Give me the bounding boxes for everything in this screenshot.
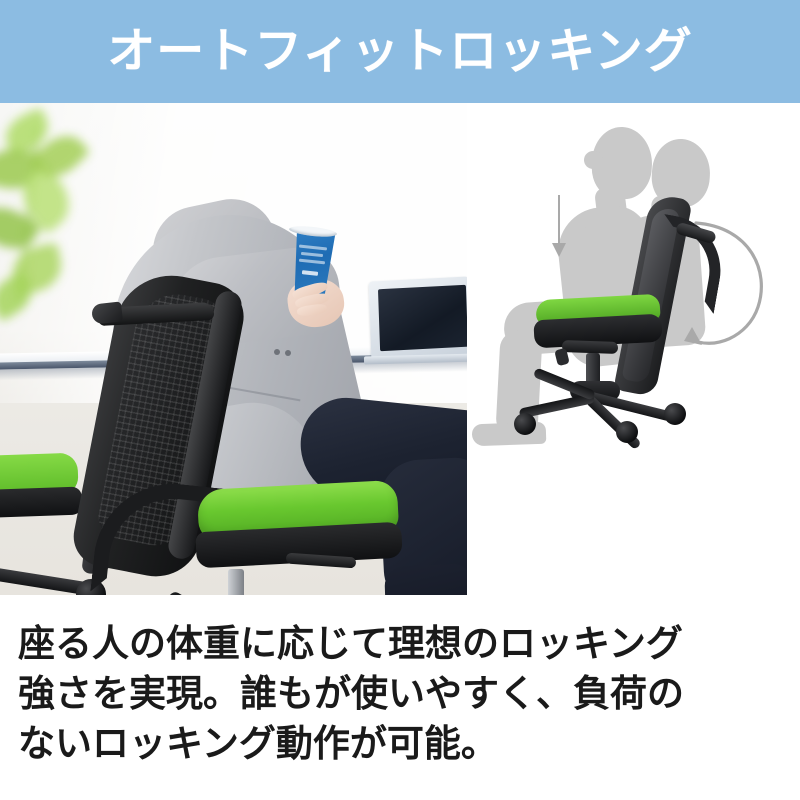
- caption-block: 座る人の体重に応じて理想のロッキング 強さを実現。誰もが使いやすく、負荷の ない…: [0, 595, 800, 800]
- diagram-canvas: [470, 103, 800, 595]
- diagram-chair-caster: [616, 421, 638, 443]
- diagram-chair-caster: [514, 413, 536, 435]
- caption-line-3: ないロッキング動作が可能。: [18, 719, 782, 769]
- jacket-button: [274, 349, 280, 355]
- auto-fit-rocking-diagram: [470, 103, 800, 595]
- person-shin: [384, 564, 467, 595]
- potted-plant: [0, 103, 114, 327]
- rotation-arrow-icon: [662, 209, 780, 359]
- down-arrow-icon: [558, 195, 560, 249]
- diagram-chair-caster: [664, 403, 686, 425]
- caption-line-1: 座る人の体重に応じて理想のロッキング: [18, 619, 782, 669]
- office-chair-second-seat-underside: [0, 486, 82, 519]
- jacket-button: [285, 350, 291, 356]
- banner-title: オートフィットロッキング: [107, 28, 693, 76]
- laptop-screen: [378, 285, 467, 352]
- office-chair-gas-cylinder: [228, 569, 244, 595]
- caption-line-2: 強さを実現。誰もが使いやすく、負荷の: [18, 669, 782, 719]
- photo-strip: [0, 103, 800, 595]
- down-arrow-head-icon: [552, 243, 566, 257]
- diagram-chair-mechanism: [562, 340, 618, 354]
- person-seated-in-office-chair-photo: [0, 103, 467, 595]
- office-chair-armrest-tip: [91, 301, 123, 324]
- header-banner: オートフィットロッキング: [0, 0, 800, 103]
- product-feature-infographic: オートフィットロッキング: [0, 0, 800, 800]
